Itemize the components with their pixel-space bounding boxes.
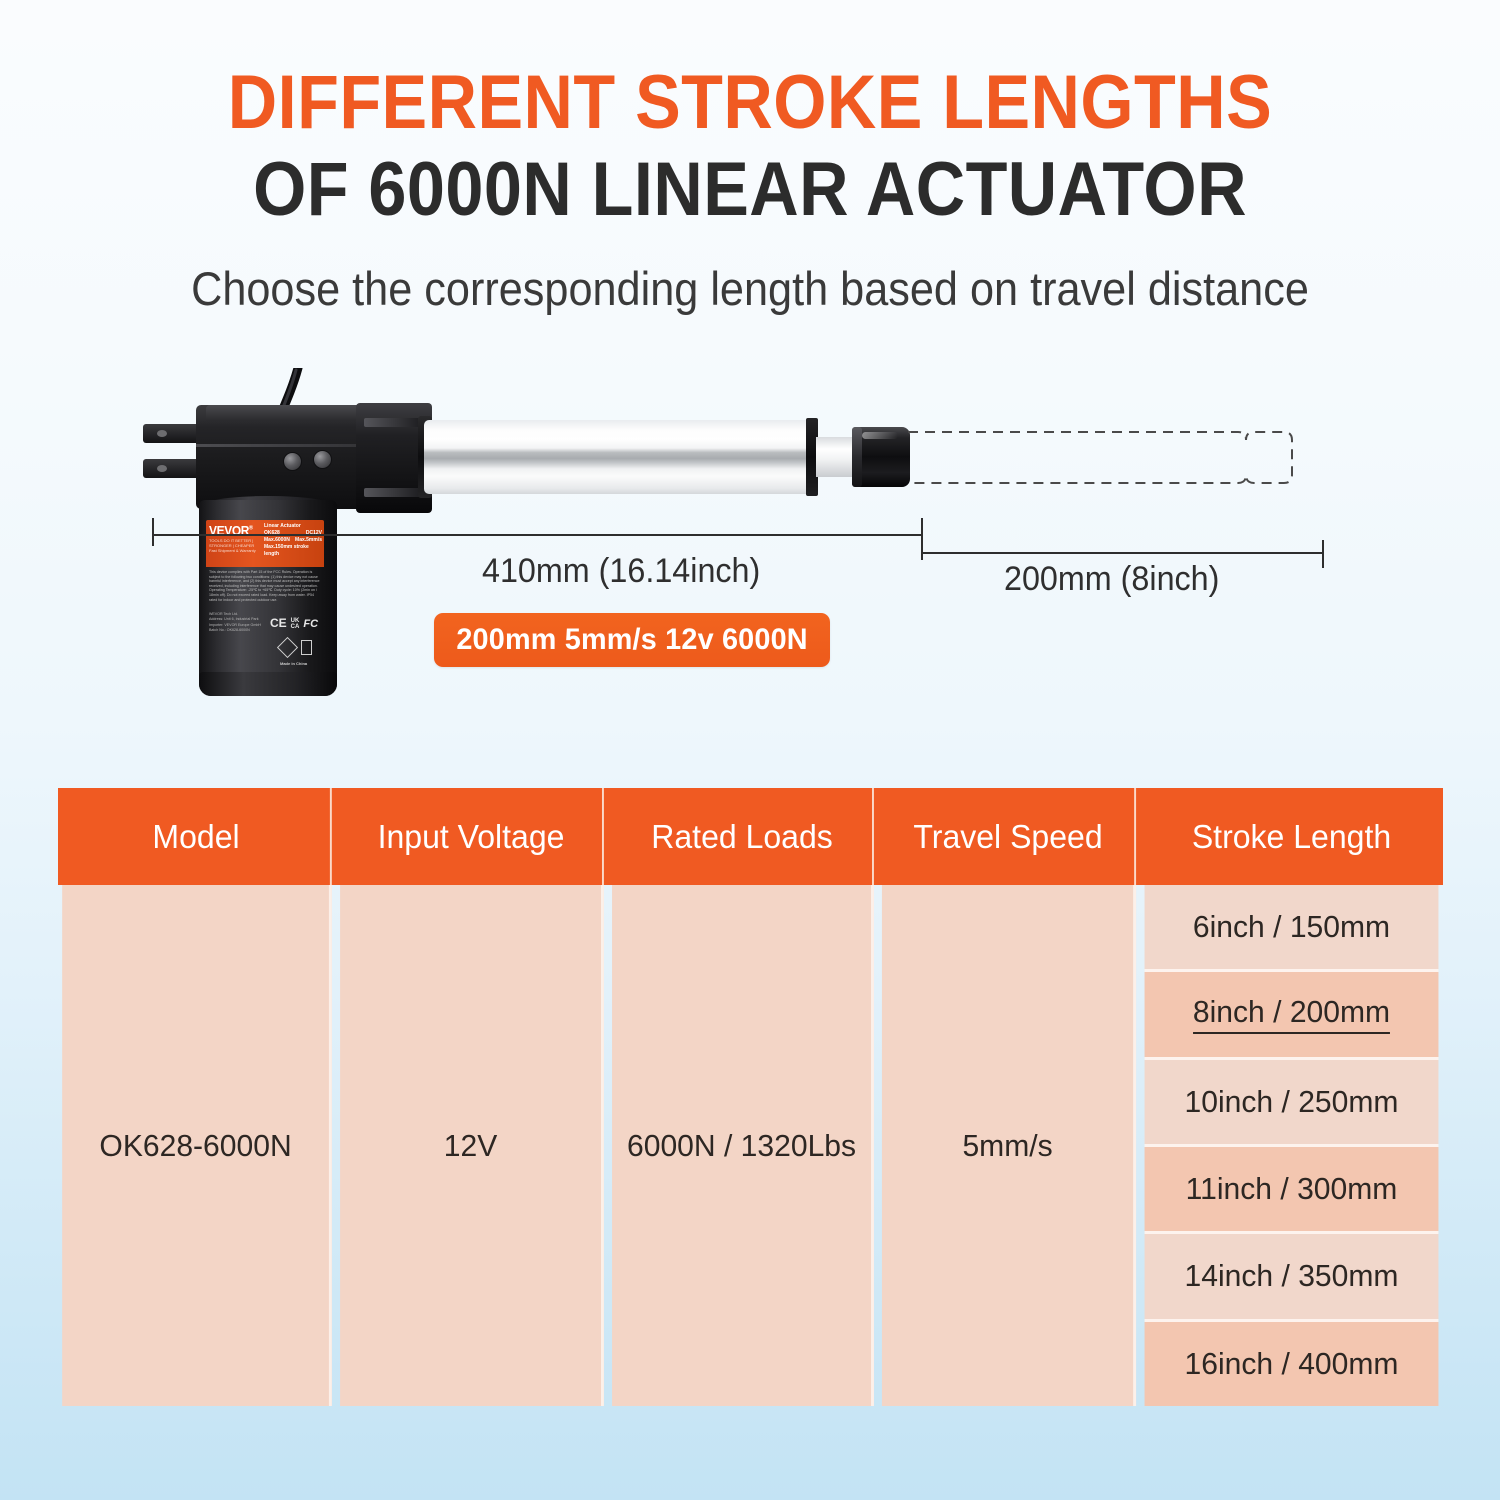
column-header-input-voltage: Input Voltage bbox=[340, 788, 604, 885]
cell-model: OK628-6000N bbox=[62, 885, 332, 1406]
table-body: OK628-6000N 12V 6000N / 1320Lbs 5mm/s 6i… bbox=[58, 885, 1443, 1406]
warning-diamond-icon bbox=[277, 636, 298, 657]
spec-badge: 200mm 5mm/s 12v 6000N bbox=[434, 613, 830, 667]
ukca-mark-icon: UKCA bbox=[291, 618, 300, 630]
label-fine-print: This device complies with Part 15 of the… bbox=[209, 570, 321, 602]
label-tagline: TOOLS DO IT BETTER | STRONGER | CHEAPER … bbox=[209, 538, 263, 553]
ce-mark-icon: CE bbox=[270, 616, 287, 630]
fc-mark-icon: FC bbox=[303, 618, 318, 630]
label-product-name: Linear Actuator bbox=[264, 523, 322, 530]
cell-input-voltage: 12V bbox=[340, 885, 604, 1406]
made-in-text: Made in China bbox=[280, 661, 307, 666]
stroke-option-label: 16inch / 400mm bbox=[1185, 1346, 1399, 1382]
dim-tick-right bbox=[1322, 540, 1324, 568]
stroke-option[interactable]: 16inch / 400mm bbox=[1145, 1322, 1439, 1406]
dimension-label-200: 200mm (8inch) bbox=[1004, 560, 1219, 599]
label-tagline-2: Fast Shipment & Warranty bbox=[209, 548, 263, 553]
dim-line-200 bbox=[921, 552, 1323, 554]
stroke-option-selected[interactable]: 8inch / 200mm bbox=[1145, 972, 1439, 1059]
label-tagline-1: TOOLS DO IT BETTER | STRONGER | CHEAPER bbox=[209, 538, 263, 548]
label-load: Max.6000N bbox=[264, 537, 290, 544]
label-speed: Max.5mm/s bbox=[295, 537, 322, 544]
label-stroke: Max.150mm stroke length bbox=[264, 544, 322, 558]
dimension-label-410: 410mm (16.14inch) bbox=[482, 552, 760, 591]
stroke-option[interactable]: 14inch / 350mm bbox=[1145, 1234, 1439, 1321]
rod-end-cap-highlight bbox=[862, 432, 898, 439]
motor-end-cap bbox=[199, 672, 337, 696]
product-label: VEVOR® TOOLS DO IT BETTER | STRONGER | C… bbox=[206, 520, 324, 672]
stroke-option-label: 11inch / 300mm bbox=[1186, 1171, 1398, 1207]
stroke-extension-outline bbox=[908, 429, 1296, 486]
bracket-hole bbox=[157, 465, 167, 472]
symbol-marks bbox=[280, 634, 322, 660]
dim-line-410 bbox=[152, 534, 922, 536]
coupler-fin-bottom bbox=[364, 488, 422, 497]
table-header-row: Model Input Voltage Rated Loads Travel S… bbox=[58, 788, 1443, 885]
label-spec-block: Linear Actuator OK628 DC12V Max.6000N Ma… bbox=[264, 523, 322, 558]
spec-table: Model Input Voltage Rated Loads Travel S… bbox=[58, 788, 1443, 1406]
stroke-option[interactable]: 10inch / 250mm bbox=[1145, 1060, 1439, 1147]
stroke-option-label: 14inch / 350mm bbox=[1185, 1258, 1399, 1294]
certification-marks: CE UKCA FC bbox=[270, 616, 322, 630]
gearbox-screw-right bbox=[313, 450, 332, 469]
column-header-travel-speed: Travel Speed bbox=[882, 788, 1136, 885]
infographic-page: DIFFERENT STROKE LENGTHS OF 6000N LINEAR… bbox=[0, 0, 1500, 1500]
spec-badge-text: 200mm 5mm/s 12v 6000N bbox=[456, 623, 807, 657]
stroke-option[interactable]: 11inch / 300mm bbox=[1145, 1147, 1439, 1234]
rod-end-cap-rim bbox=[852, 427, 862, 487]
column-header-stroke-length: Stroke Length bbox=[1145, 788, 1439, 885]
stroke-option[interactable]: 6inch / 150mm bbox=[1145, 885, 1439, 972]
stroke-option-label: 10inch / 250mm bbox=[1185, 1084, 1399, 1120]
weee-bin-icon bbox=[301, 640, 312, 655]
outer-tube bbox=[424, 420, 814, 494]
product-illustration: VEVOR® TOOLS DO IT BETTER | STRONGER | C… bbox=[0, 0, 1500, 760]
column-header-rated-loads: Rated Loads bbox=[612, 788, 874, 885]
cell-travel-speed: 5mm/s bbox=[882, 885, 1136, 1406]
gearbox-screw-left bbox=[283, 452, 302, 471]
cell-rated-loads: 6000N / 1320Lbs bbox=[612, 885, 874, 1406]
bracket-hole bbox=[157, 430, 167, 437]
label-address-block: WEVOR Tech Ltd. Address: Unit 6, Industr… bbox=[209, 612, 273, 634]
dim-tick-left bbox=[152, 518, 154, 546]
stroke-option-label: 6inch / 150mm bbox=[1193, 909, 1390, 945]
cell-stroke-length-list: 6inch / 150mm 8inch / 200mm 10inch / 250… bbox=[1140, 885, 1443, 1406]
stroke-option-label: 8inch / 200mm bbox=[1193, 994, 1390, 1034]
coupler-fin-top bbox=[364, 418, 422, 427]
column-header-model: Model bbox=[62, 788, 332, 885]
